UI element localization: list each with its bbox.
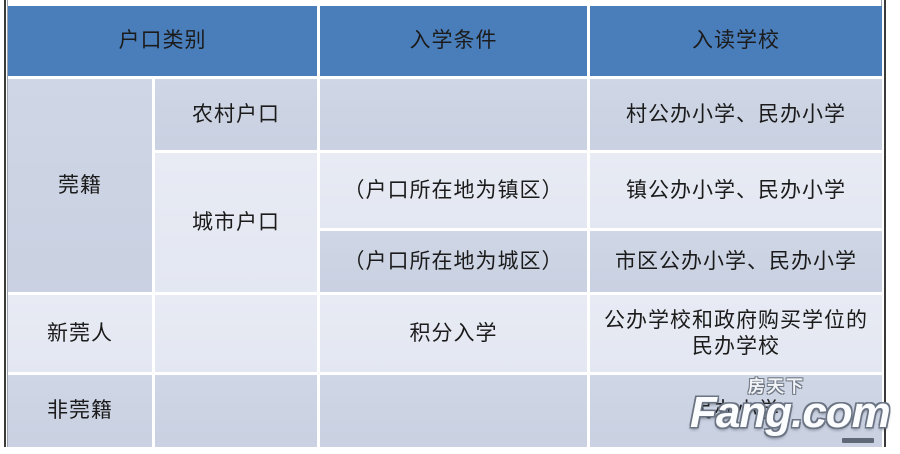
table-header: 户口类别 入学条件 入读学校 — [8, 6, 882, 79]
cell-subcategory-urban: 城市户口 — [155, 153, 320, 295]
enrollment-policy-table: 户口类别 入学条件 入读学校 莞籍 农村户口 村公办小学、民办小学 城市户口 （… — [8, 6, 882, 447]
cell-subcategory-feiguanji — [155, 375, 320, 447]
cell-school-city: 市区公办小学、民办小学 — [590, 231, 882, 295]
cell-school-feiguanji: 民办小学 — [590, 375, 882, 447]
table-body: 莞籍 农村户口 村公办小学、民办小学 城市户口 （户口所在地为镇区） 镇公办小学… — [8, 79, 882, 447]
table-row: 莞籍 农村户口 村公办小学、民办小学 — [8, 79, 882, 153]
table-left-edge-rule — [4, 0, 6, 447]
cell-condition-rural — [320, 79, 590, 153]
cell-school-points: 公办学校和政府购买学位的民办学校 — [590, 295, 882, 375]
cell-condition-feiguanji — [320, 375, 590, 447]
cell-condition-city: （户口所在地为城区） — [320, 231, 590, 295]
cell-subcategory-xinguanren — [155, 295, 320, 375]
cell-category-guanji: 莞籍 — [8, 79, 155, 295]
header-enrollment-condition: 入学条件 — [320, 6, 590, 79]
cell-category-feiguanji: 非莞籍 — [8, 375, 155, 447]
cell-subcategory-rural: 农村户口 — [155, 79, 320, 153]
cell-condition-town: （户口所在地为镇区） — [320, 153, 590, 231]
header-school-attended: 入读学校 — [590, 6, 882, 79]
comparison-table-container: 户口类别 入学条件 入读学校 莞籍 农村户口 村公办小学、民办小学 城市户口 （… — [0, 0, 900, 454]
table-row: 非莞籍 民办小学 — [8, 375, 882, 447]
cell-school-town: 镇公办小学、民办小学 — [590, 153, 882, 231]
table-row: 新莞人 积分入学 公办学校和政府购买学位的民办学校 — [8, 295, 882, 375]
cell-condition-points: 积分入学 — [320, 295, 590, 375]
table-header-row: 户口类别 入学条件 入读学校 — [8, 6, 882, 79]
cell-category-xinguanren: 新莞人 — [8, 295, 155, 375]
header-household-category: 户口类别 — [8, 6, 320, 79]
cell-school-rural: 村公办小学、民办小学 — [590, 79, 882, 153]
table-right-edge-rule — [884, 0, 886, 447]
